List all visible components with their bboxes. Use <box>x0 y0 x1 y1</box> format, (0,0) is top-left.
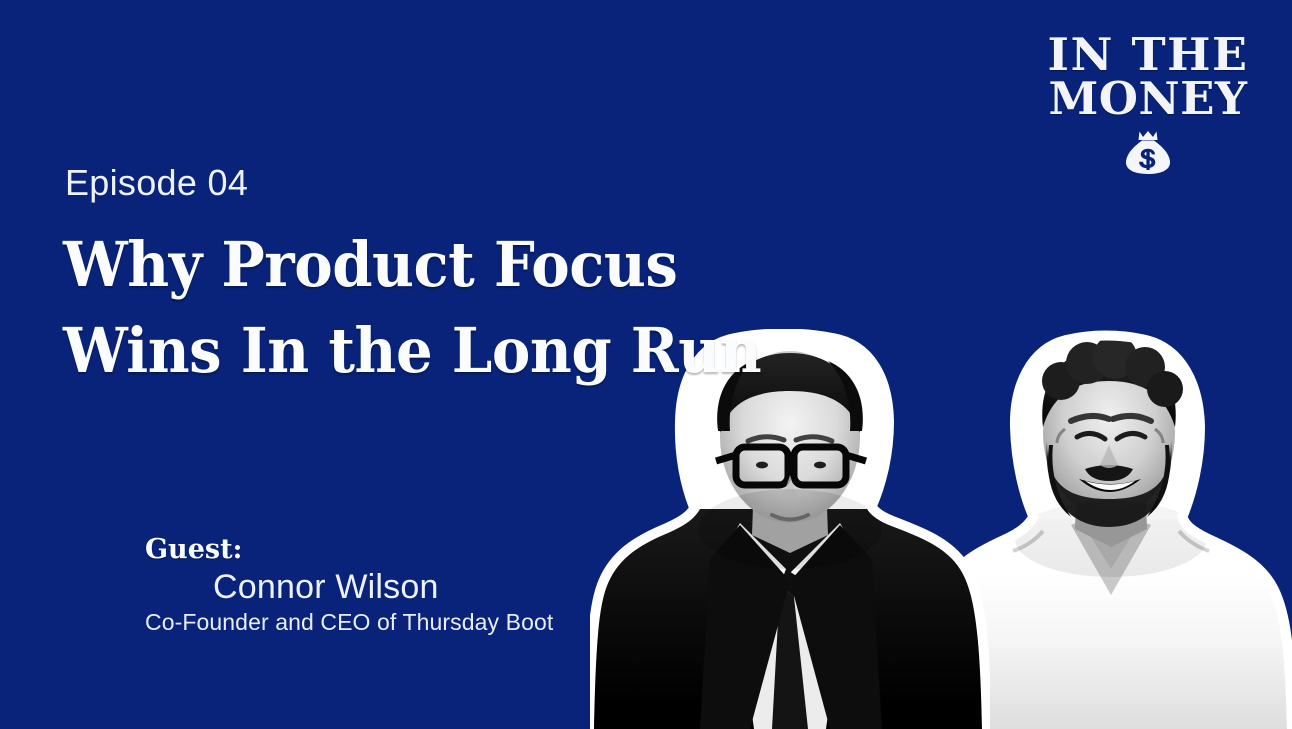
guest-name: Connor Wilson <box>213 569 553 606</box>
episode-label: Episode 04 <box>65 162 248 204</box>
page-title: Why Product Focus Wins In the Long Run <box>63 222 763 393</box>
guest-info: Guest: Connor Wilson Co-Founder and CEO … <box>145 536 553 637</box>
show-logo: IN THE MONEY <box>1030 34 1266 175</box>
logo-line-1: IN THE <box>1028 34 1269 76</box>
logo-line-2: MONEY <box>1030 78 1266 120</box>
guest-role: Co-Founder and CEO of Thursday Boot <box>145 609 553 637</box>
title-line-2: Wins In the Long Run <box>63 308 714 394</box>
guest-label: Guest: <box>145 536 553 563</box>
title-line-1: Why Product Focus <box>63 222 714 308</box>
money-bag-icon <box>1122 129 1174 175</box>
podcast-episode-title-card: IN THE MONEY Episode 04 Why Product Focu… <box>0 0 1292 729</box>
